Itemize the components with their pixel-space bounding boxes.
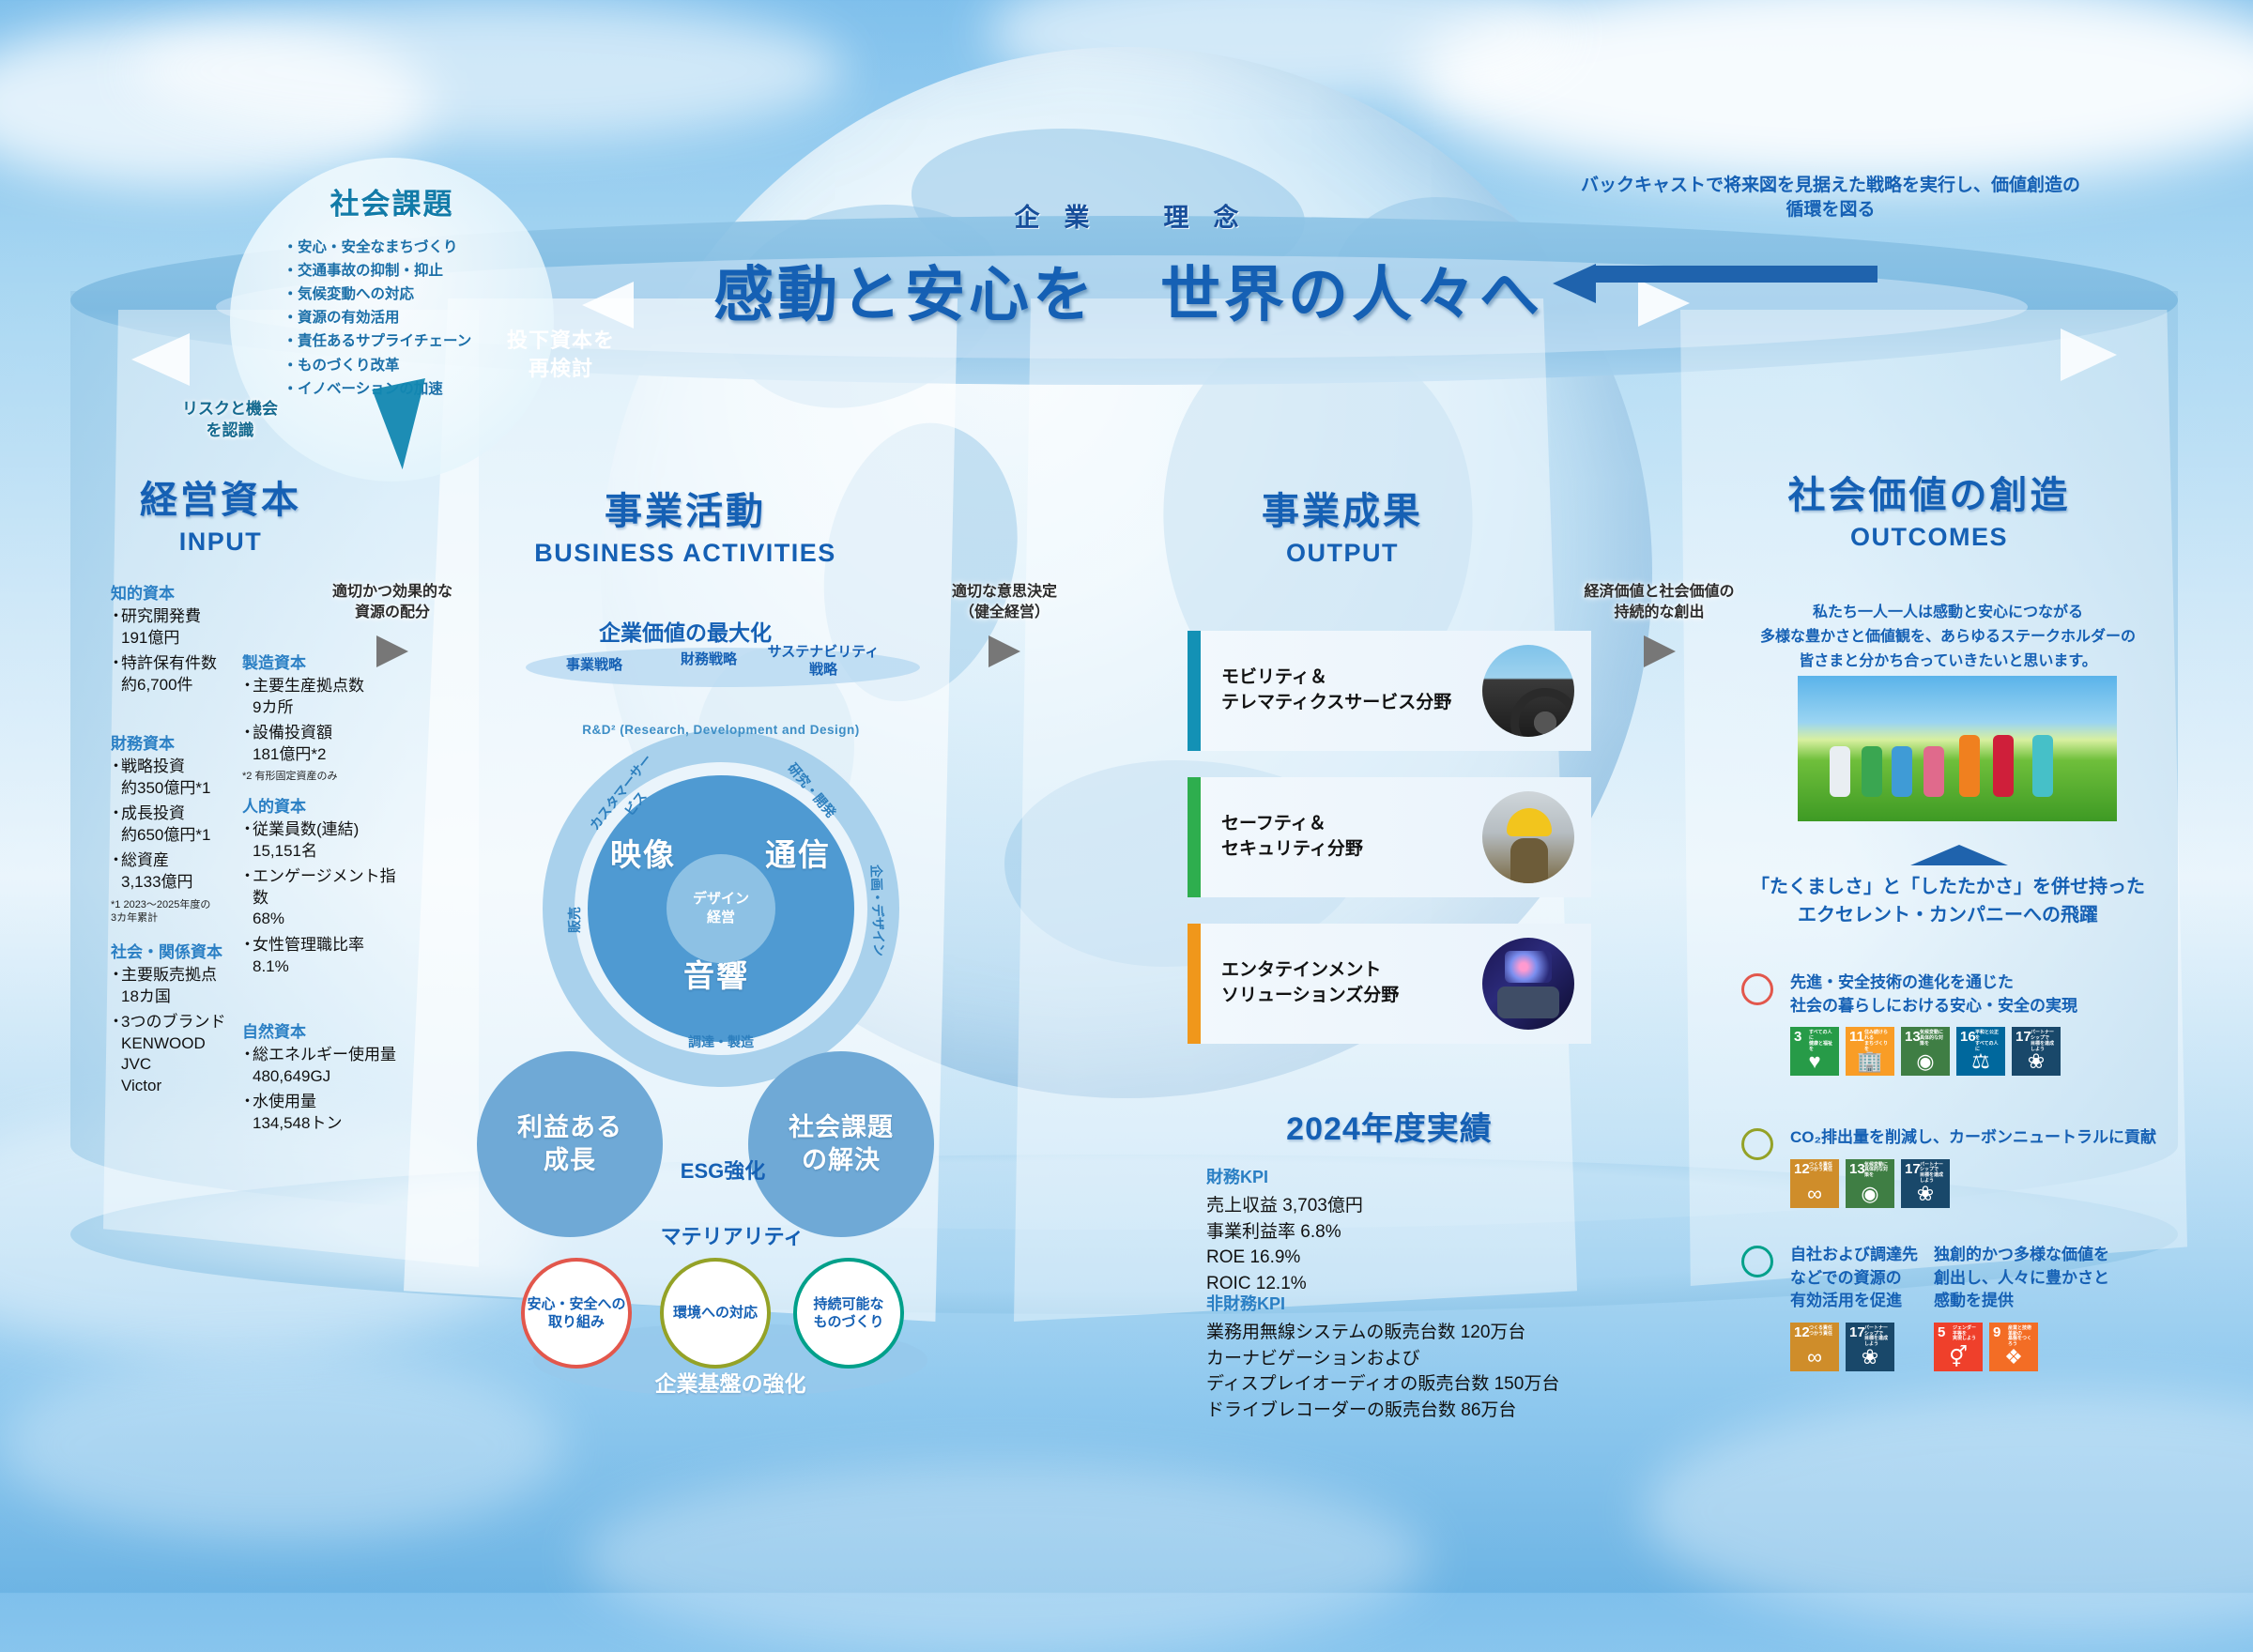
sdg-number: 3 [1794,1030,1801,1044]
kpi-section-title: 2024年度実績 [1202,1103,1577,1149]
segment-accent-bar [1188,631,1201,751]
materiality-environment: 環境への対応 [660,1258,771,1369]
column-heading-input: 経営資本 INPUT [70,469,371,557]
social-issues-title: 社会課題 [230,180,554,222]
arrow-right-icon [1644,635,1676,667]
sdg-glyph: ◉ [1901,1051,1950,1072]
heading-jp: 経営資本 [70,469,371,524]
list-item: ・ものづくり改革 [284,354,501,377]
sdg-glyph: 🏢 [1846,1051,1894,1072]
list-item: ・交通事故の抑制・抑止 [284,259,501,283]
output-segment-entertainment: エンタテインメント ソリューションズ分野 [1188,924,1591,1044]
heading-en: INPUT [70,528,371,557]
outcomes-tagline: 「たくましさ」と「したたかさ」を併せ持った エクセレント・カンパニーへの飛躍 [1741,873,2154,929]
strategy-business: 事業戦略 [543,657,646,675]
sdg-number: 12 [1794,1325,1810,1339]
list-item: 研究開発費 191億円 [111,606,266,649]
kpi-value: 売上収益 3,703億円 [1206,1193,1363,1219]
outcome-bullet-icon [1741,1128,1773,1160]
sdg-number: 16 [1960,1030,1976,1044]
materiality-safety: 安心・安全への 取り組み [521,1258,632,1369]
outcome-text: 自社および調達先 などでの資源の 有効活用を促進 [1790,1244,1957,1313]
sdg-title: 気候変動に 具体的な対策を [1864,1163,1892,1179]
sdg-glyph: ∞ [1790,1347,1839,1368]
sdg-17-icon: 17 パートナーシップで 目標を達成しよう ❀ [2012,1027,2061,1076]
outcome-row-value-creation: 独創的かつ多様な価値を 創出し、人々に豊かさと 感動を提供 5 ジェンダー平等を… [1934,1244,2169,1371]
list-item: 水使用量 134,548トン [242,1092,397,1134]
sdg-number: 12 [1794,1162,1810,1176]
design-management-label: デザイン 経営 [693,890,749,928]
risk-recognition-label: リスクと機会 を認識 [141,399,319,442]
sdg-glyph: ♥ [1790,1051,1839,1072]
sdg-3-icon: 3 すべての人に 健康と福祉を ♥ [1790,1027,1839,1076]
connector-decision: 適切な意思決定 （健全経営） [915,582,1094,667]
outcome-text: 先進・安全技術の進化を通じた 社会の暮らしにおける安心・安全の実現 [1790,971,2164,1017]
materiality-sustainable-manufacturing: 持続可能な ものづくり [793,1258,904,1369]
list-item: ・責任あるサプライチェーン [284,329,501,353]
ring-segment-procurement-manufacturing: 調達・製造 [669,1032,773,1051]
connector-allocation-label: 適切かつ効果的な 資源の配分 [299,582,486,624]
list-item: エンゲージメント指数 68% [242,866,397,930]
financial-kpi-label: 財務KPI [1206,1164,1363,1188]
list-item: ・気候変動への対応 [284,283,501,306]
strategy-financial: 財務戦略 [657,651,760,669]
kpi-value: 業務用無線システムの販売台数 120万台 [1206,1320,1559,1346]
sdg-17-icon: 17 パートナーシップで 目標を達成しよう ❀ [1901,1159,1950,1208]
materiality-label: 持続可能な ものづくり [813,1295,883,1332]
outcome-row-carbon: CO₂排出量を削減し、カーボンニュートラルに貢献 12 つくる責任 つかう責任 … [1741,1126,2164,1208]
outcome-bullet-icon [1741,973,1773,1005]
children-running-in-field-photo [1798,676,2117,821]
heading-jp: 事業活動 [483,481,887,535]
sdg-number: 17 [1849,1325,1865,1339]
output-segment-mobility: モビリティ＆ テレマティクスサービス分野 [1188,631,1591,751]
kpi-value: ドライブレコーダーの販売台数 86万台 [1206,1398,1559,1424]
firefighter-radio-photo [1482,791,1574,883]
sdg-13-icon: 13 気候変動に 具体的な対策を ◉ [1846,1159,1894,1208]
max-corporate-value-label: 企業価値の最大化 [512,615,859,647]
car-driving-photo [1482,645,1574,737]
list-item: ・資源の有効活用 [284,306,501,329]
domain-communication: 通信 [765,830,831,875]
list-item: 総エネルギー使用量 480,649GJ [242,1045,397,1087]
ring-segment-planning-design: 企画・デザイン [866,859,889,963]
list-item: 設備投資額 181億円*2 [242,723,397,765]
sdg-11-icon: 11 住み続けられる まちづくりを 🏢 [1846,1027,1894,1076]
sdg-number: 13 [1905,1030,1921,1044]
arrow-right-icon [989,635,1020,667]
heading-jp: 社会価値の創造 [1718,465,2140,519]
sdg-number: 5 [1938,1325,1945,1339]
sdg-glyph: ◉ [1846,1184,1894,1204]
sdg-glyph: ❀ [1901,1184,1950,1204]
sdg-title: ジェンダー平等を 実現しよう [1953,1326,1980,1342]
bubble-label: 利益ある 成長 [517,1111,622,1177]
segment-accent-bar [1188,777,1201,897]
sdg-5-icon: 5 ジェンダー平等を 実現しよう ⚥ [1934,1323,1983,1371]
financial-kpi-block: 財務KPI 売上収益 3,703億円 事業利益率 6.8% ROE 16.9% … [1206,1164,1363,1296]
outcomes-arrow-up-icon [1910,845,2008,865]
sdg-glyph: ⚖ [1956,1051,2005,1072]
column-heading-outcomes: 社会価値の創造 OUTCOMES [1718,465,2140,552]
philosophy-statement: 感動と安心を 世界の人々へ [713,247,1540,333]
kpi-value: カーナビゲーションおよび [1206,1346,1559,1372]
outcome-row-resources: 自社および調達先 などでの資源の 有効活用を促進 12 つくる責任 つかう責任 … [1741,1244,1957,1371]
bubble-solving-social-issues: 社会課題 の解決 [748,1051,934,1237]
cloud-decoration [1643,1389,2253,1633]
sdg-9-icon: 9 産業と技術革新の 基盤をつくろう ❖ [1989,1323,2038,1371]
cycle-arrow-right-inner-icon [1638,280,1690,327]
sdg-icon-group: 3 すべての人に 健康と福祉を ♥ 11 住み続けられる まちづくりを 🏢 13… [1790,1027,2164,1076]
output-segment-safety: セーフティ＆ セキュリティ分野 [1188,777,1591,897]
segment-name: エンタテインメント ソリューションズ分野 [1221,958,1482,1008]
kpi-value: ROE 16.9% [1206,1245,1363,1271]
backcast-arrow-icon [1596,266,1877,283]
sdg-number: 17 [2015,1030,2031,1044]
segment-name: モビリティ＆ テレマティクスサービス分野 [1221,665,1482,715]
non-financial-kpi-block: 非財務KPI 業務用無線システムの販売台数 120万台 カーナビゲーションおよび… [1206,1291,1559,1423]
sdg-number: 17 [1905,1162,1921,1176]
philosophy-kicker: 企業 理念 [713,197,1540,234]
list-item: 主要生産拠点数 9カ所 [242,676,397,718]
rd-arc-label: R&D² (Research, Development and Design) [543,723,899,737]
segment-name: セーフティ＆ セキュリティ分野 [1221,812,1482,862]
bubble-label: 社会課題 の解決 [789,1111,894,1177]
strategy-sustainability: サステナビリティ 戦略 [762,644,884,680]
reinvest-capital-label: 投下資本を 再検討 [479,327,643,382]
sdg-16-icon: 16 平和と公正を すべての人に ⚖ [1956,1027,2005,1076]
list-item: 女性管理職比率 8.1% [242,935,397,977]
sdg-icon-group: 12 つくる責任 つかう責任 ∞ 13 気候変動に 具体的な対策を ◉ 17 パ… [1790,1159,2164,1208]
column-heading-output: 事業成果 OUTPUT [1164,481,1521,568]
materiality-label: 環境への対応 [673,1304,758,1323]
sdg-glyph: ⚥ [1934,1347,1983,1368]
sdg-number: 13 [1849,1162,1865,1176]
materiality-label: 安心・安全への 取り組み [527,1295,625,1332]
capital-title: 製造資本 [242,650,397,673]
sdg-17-icon: 17 パートナーシップで 目標を達成しよう ❀ [1846,1323,1894,1371]
capital-note: *2 有形固定資産のみ [242,770,397,783]
sdg-glyph: ∞ [1790,1184,1839,1204]
kpi-value: ディスプレイオーディオの販売台数 150万台 [1206,1371,1559,1398]
materiality-title: マテリアリティ [563,1220,901,1250]
esg-strengthening-label: ESG強化 [648,1155,798,1185]
sdg-13-icon: 13 気候変動に 具体的な対策を ◉ [1901,1027,1950,1076]
sdg-12-icon: 12 つくる責任 つかう責任 ∞ [1790,1159,1839,1208]
capital-title: 人的資本 [242,793,397,817]
list-item: 従業員数(連結) 15,151名 [242,819,397,862]
list-item: ・安心・安全なまちづくり [284,236,501,259]
capital-title: 自然資本 [242,1018,397,1042]
non-financial-kpi-label: 非財務KPI [1206,1291,1559,1315]
sdg-icon-group: 5 ジェンダー平等を 実現しよう ⚥ 9 産業と技術革新の 基盤をつくろう ❖ [1934,1323,2169,1371]
domain-video: 映像 [610,830,676,875]
cloud-decoration [582,1464,1427,1652]
column-heading-business: 事業活動 BUSINESS ACTIVITIES [483,481,887,568]
capital-title: 知的資本 [111,580,266,604]
capital-block-manufactured: 製造資本 主要生産拠点数 9カ所 設備投資額 181億円*2 *2 有形固定資産… [242,650,397,784]
connector-decision-label: 適切な意思決定 （健全経営） [915,582,1094,624]
cloud-decoration [131,0,845,141]
sdg-12-icon: 12 つくる責任 つかう責任 ∞ [1790,1323,1839,1371]
sdg-glyph: ❖ [1989,1347,2038,1368]
connector-creation-label: 経済価値と社会価値の 持続的な創出 [1554,582,1765,624]
capital-block-human: 人的資本 従業員数(連結) 15,151名 エンゲージメント指数 68% 女性管… [242,793,397,982]
outcome-bullet-icon [1741,1246,1773,1277]
outcome-row-safety: 先進・安全技術の進化を通じた 社会の暮らしにおける安心・安全の実現 3 すべての… [1741,971,2164,1076]
sdg-number: 9 [1993,1325,2000,1339]
heading-en: OUTPUT [1164,539,1521,568]
projector-photo [1482,938,1574,1030]
cycle-arrow-left-icon [131,333,190,386]
sdg-icon-group: 12 つくる責任 つかう責任 ∞ 17 パートナーシップで 目標を達成しよう ❀ [1790,1323,1957,1371]
capital-block-natural: 自然資本 総エネルギー使用量 480,649GJ 水使用量 134,548トン [242,1018,397,1139]
cycle-arrow-right-icon [2061,329,2117,381]
corporate-philosophy: 企業 理念 感動と安心を 世界の人々へ [713,197,1540,333]
heading-en: OUTCOMES [1718,523,2140,552]
sdg-number: 11 [1849,1030,1864,1044]
ring-segment-sales: 販売 [565,873,584,967]
sdg-title: つくる責任 つかう責任 [1809,1163,1836,1174]
foundation-label: 企業基盤の強化 [533,1366,927,1398]
sdg-title: つくる責任 つかう責任 [1809,1326,1836,1338]
sdg-glyph: ❀ [1846,1347,1894,1368]
sdg-title: 気候変動に 具体的な対策を [1920,1031,1947,1047]
cloud-decoration [0,1352,563,1539]
heading-en: BUSINESS ACTIVITIES [483,539,887,568]
backcast-label: バックキャストで将来図を見据えた戦略を実行し、価値創造の循環を図る [1577,174,2084,222]
outcome-text: CO₂排出量を削減し、カーボンニュートラルに貢献 [1790,1126,2164,1150]
design-management-core: デザイン 経営 [667,854,775,963]
cycle-arrow-left-inner-icon [582,282,634,329]
outcome-text: 独創的かつ多様な価値を 創出し、人々に豊かさと 感動を提供 [1934,1244,2169,1313]
segment-accent-bar [1188,924,1201,1044]
kpi-value: 事業利益率 6.8% [1206,1219,1363,1246]
sdg-glyph: ❀ [2012,1051,2061,1072]
outcomes-lead-text: 私たち一人一人は感動と安心につながる 多様な豊かさと価値観を、あらゆるステークホ… [1741,601,2154,674]
heading-jp: 事業成果 [1164,481,1521,535]
bubble-profitable-growth: 利益ある 成長 [477,1051,663,1237]
